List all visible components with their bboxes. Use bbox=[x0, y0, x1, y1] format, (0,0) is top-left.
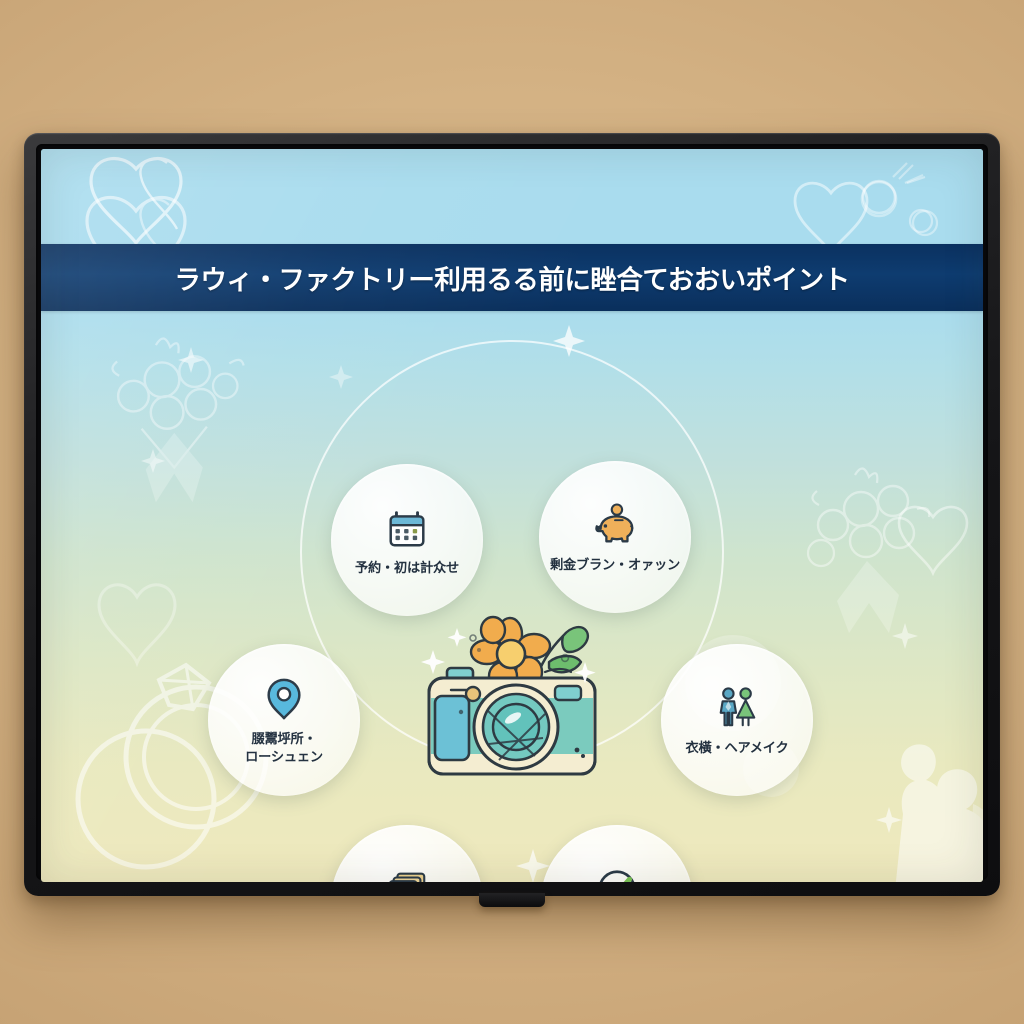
wall-background: ラウィ・ファクトリー利用るる前に睉合ておおいポイント bbox=[0, 0, 1024, 1024]
feature-label: 腏鬻垀所・ ローシュェン bbox=[245, 731, 323, 766]
heart-outline-left bbox=[99, 585, 175, 663]
heart-outline-right bbox=[899, 507, 967, 573]
feature-bubble-pricing[interactable]: 剰金ブラン・オァッン bbox=[539, 461, 691, 613]
map-pin-icon bbox=[259, 674, 309, 724]
feature-bubble-reservation[interactable]: 予約・初は計众せ bbox=[331, 464, 483, 616]
feature-label: 剰金ブラン・オァッン bbox=[550, 557, 680, 575]
presentation-screen[interactable]: ラウィ・ファクトリー利用るる前に睉合ておおいポイント bbox=[41, 149, 983, 882]
feature-bubble-location[interactable]: 腏鬻垀所・ ローシュェン bbox=[208, 644, 360, 796]
feature-bubble-album[interactable]: アルバム・デケ彩㧏 bbox=[331, 825, 483, 882]
piggy-bank-icon bbox=[590, 500, 640, 550]
bride-groom-silhouette-bottom-right bbox=[878, 744, 983, 882]
slide-title-bar: ラウィ・ファクトリー利用るる前に睉合ておおいポイント bbox=[41, 244, 983, 311]
calendar-icon bbox=[382, 503, 432, 553]
feature-bubble-costume[interactable]: 衣橫・ヘアメイク bbox=[661, 644, 813, 796]
feature-label: 予約・初は計众せ bbox=[355, 560, 459, 578]
monitor-stand bbox=[479, 893, 545, 907]
monitor-device: ラウィ・ファクトリー利用るる前に睉合ておおいポイント bbox=[24, 133, 1000, 896]
check-circle-icon bbox=[592, 864, 642, 882]
top-decorative-band bbox=[41, 149, 983, 244]
bouquet-outline-left bbox=[112, 338, 243, 502]
couple-icon bbox=[712, 683, 762, 733]
photo-cards-icon bbox=[382, 864, 432, 882]
page-title: ラウィ・ファクトリー利用るる前に睉合ておおいポイント bbox=[174, 258, 849, 297]
bouquet-outline-right bbox=[808, 468, 929, 633]
camera-with-flower-icon bbox=[417, 610, 607, 800]
feature-label: 衣橫・ヘアメイク bbox=[686, 740, 789, 758]
feature-bubble-schedule[interactable]: 当日の旄鑶・弹裡 bbox=[541, 825, 693, 882]
